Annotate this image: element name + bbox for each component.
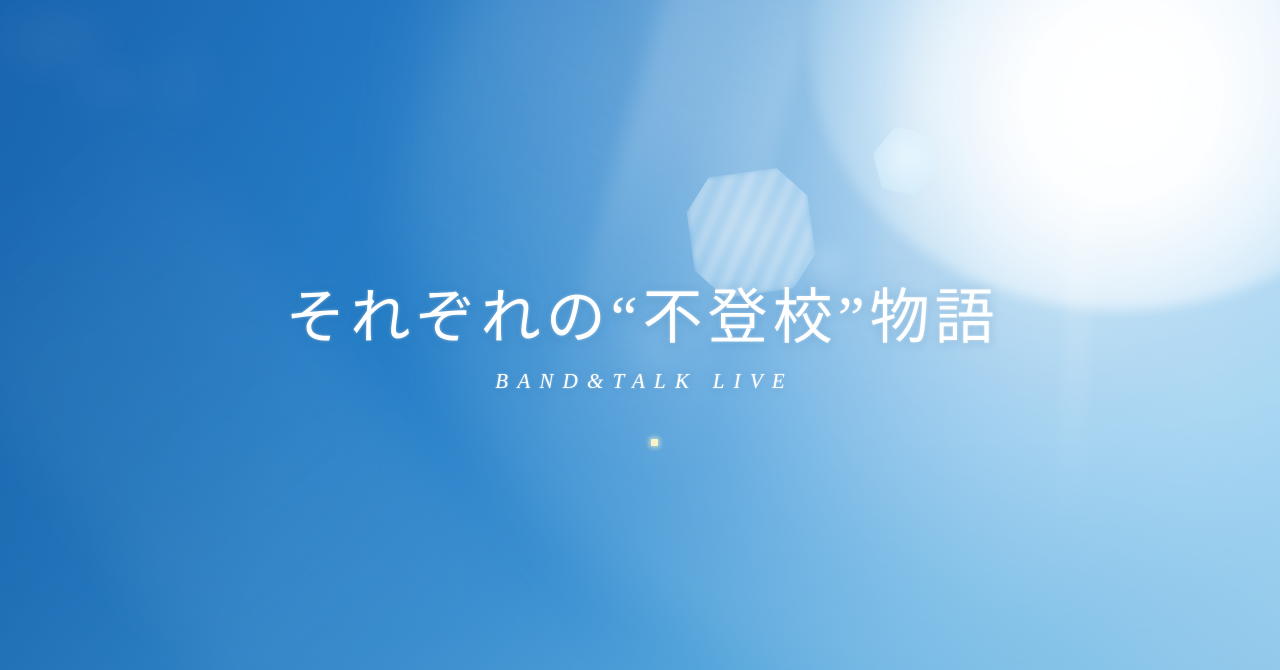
accent-dot-icon xyxy=(651,439,658,446)
page-title: それぞれの“不登校”物語 xyxy=(0,286,1280,351)
hero-banner: それぞれの“不登校”物語 BAND&TALK LIVE xyxy=(0,0,1280,670)
page-subtitle: BAND&TALK LIVE xyxy=(0,369,1280,394)
title-block: それぞれの“不登校”物語 BAND&TALK LIVE xyxy=(0,286,1280,394)
